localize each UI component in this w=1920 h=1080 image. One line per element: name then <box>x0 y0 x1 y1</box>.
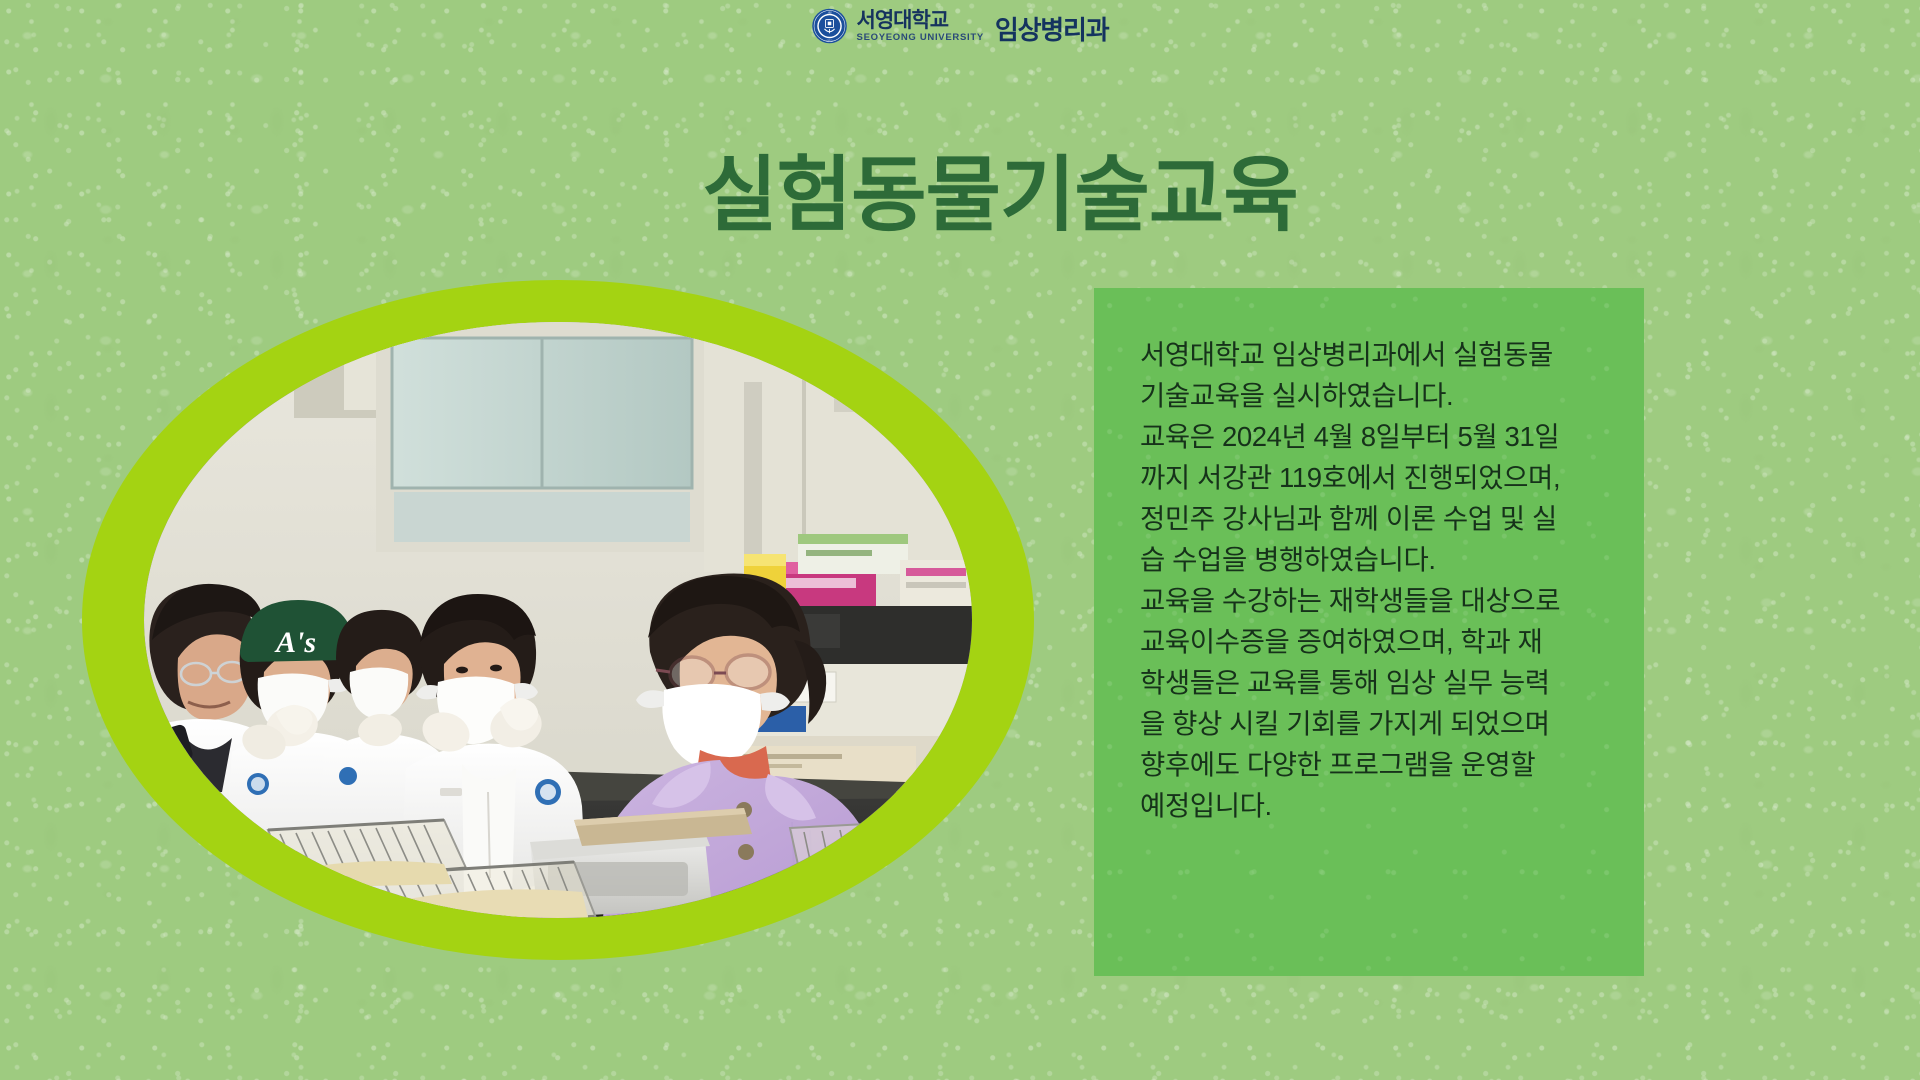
photo-oval-mask: SAMSUNG <box>144 322 972 918</box>
logo-wordmark: 서영대학교 SEOYEONG UNIVERSITY 임상병리과 <box>857 10 1109 43</box>
photo-frame: SAMSUNG <box>82 280 1034 960</box>
logo-university-ko: 서영대학교 <box>857 10 984 31</box>
logo-university-en: SEOYEONG UNIVERSITY <box>857 33 984 43</box>
university-logo: 서영 대학교 서영대학교 SEOYEONG UNIVERSITY 임상병리과 <box>812 8 1109 44</box>
description-text: 서영대학교 임상병리과에서 실험동물 기술교육을 실시하였습니다. 교육은 20… <box>1140 334 1620 826</box>
svg-text:A's: A's <box>274 626 316 659</box>
university-seal-icon: 서영 대학교 <box>812 8 848 44</box>
page-title: 실험동물기술교육 <box>0 128 1920 247</box>
logo-university-block: 서영대학교 SEOYEONG UNIVERSITY <box>857 10 984 43</box>
lab-training-photo: SAMSUNG <box>144 322 972 918</box>
wire-cage-right <box>790 820 956 892</box>
logo-department: 임상병리과 <box>995 17 1109 43</box>
slide-canvas: 서영 대학교 서영대학교 SEOYEONG UNIVERSITY 임상병리과 실… <box>0 0 1920 1080</box>
description-panel: 서영대학교 임상병리과에서 실험동물 기술교육을 실시하였습니다. 교육은 20… <box>1094 288 1644 976</box>
